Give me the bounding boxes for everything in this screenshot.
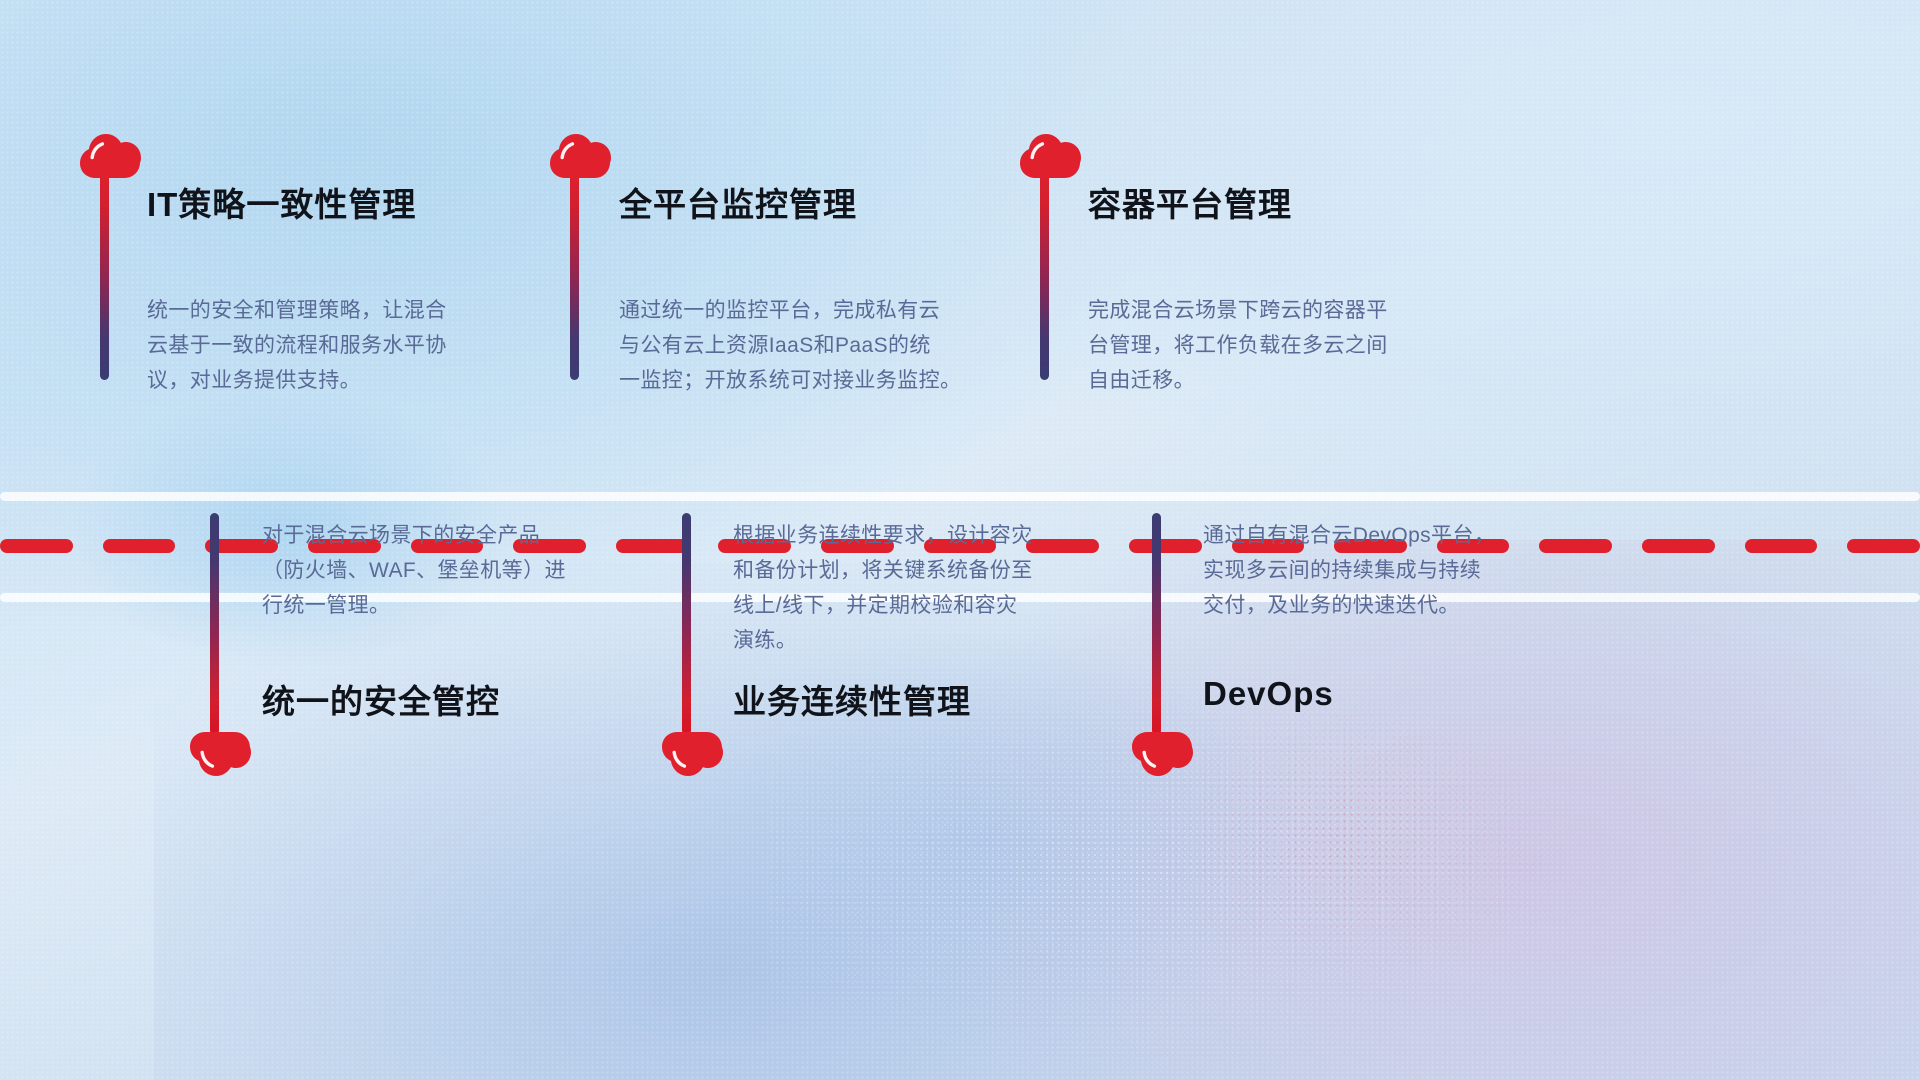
description-line: 实现多云间的持续集成与持续 — [1203, 553, 1495, 588]
bottom-item-title: DevOps — [1203, 675, 1334, 713]
connector-stem — [1152, 513, 1161, 735]
cloud-icon — [1130, 731, 1196, 779]
description-line: 交付，及业务的快速迭代。 — [1203, 588, 1495, 623]
bottom-column-3[interactable]: DevOps通过自有混合云DevOps平台，实现多云间的持续集成与持续交付，及业… — [0, 0, 1920, 1080]
bottom-item-description: 通过自有混合云DevOps平台，实现多云间的持续集成与持续交付，及业务的快速迭代… — [1203, 518, 1495, 623]
infographic-canvas: IT策略一致性管理统一的安全和管理策略，让混合云基于一致的流程和服务水平协议，对… — [0, 0, 1920, 1080]
description-line: 通过自有混合云DevOps平台， — [1203, 518, 1495, 553]
